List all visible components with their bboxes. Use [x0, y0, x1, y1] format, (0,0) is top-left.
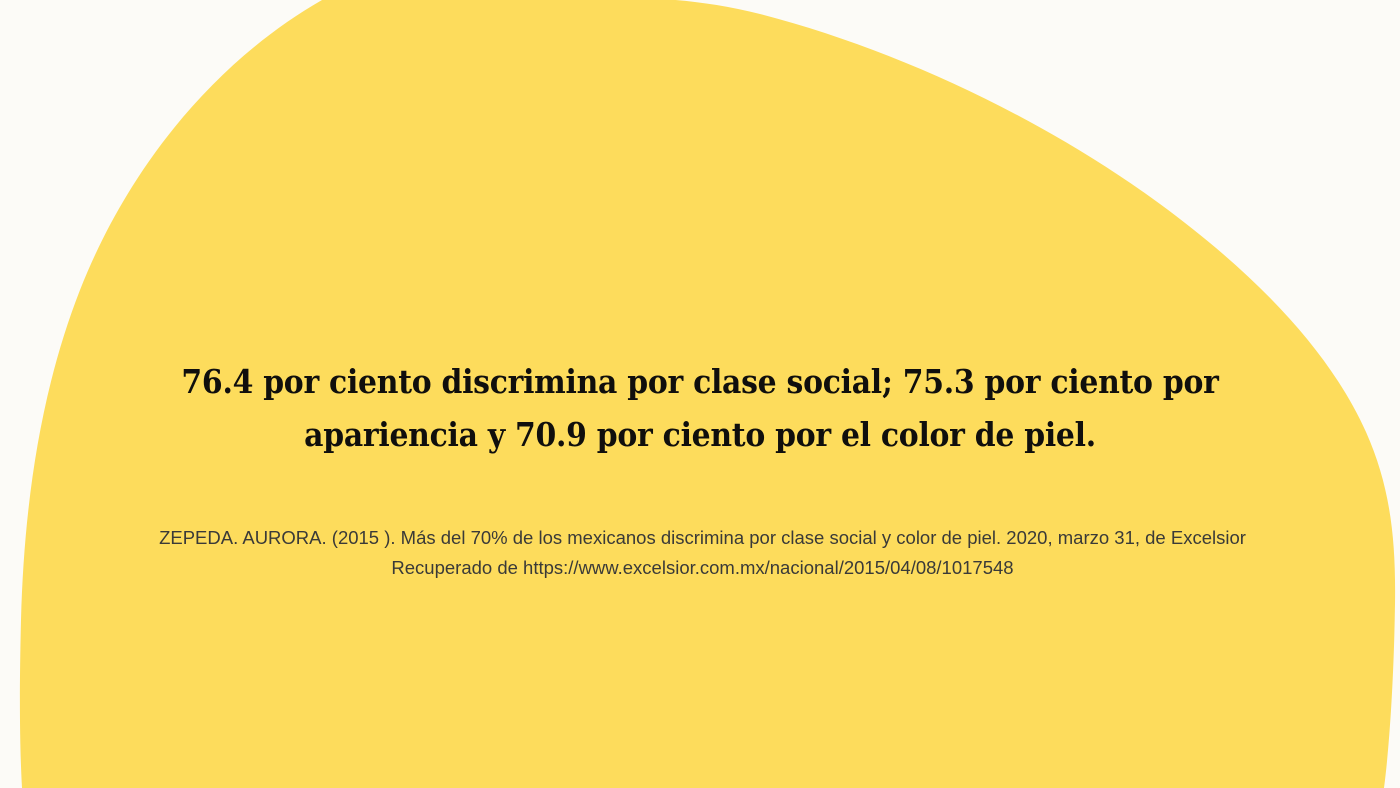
source-citation: ZEPEDA. AURORA. (2015 ). Más del 70% de …	[110, 523, 1295, 583]
slide-canvas: 76.4 por ciento discrimina por clase soc…	[0, 0, 1400, 788]
page-title: 76.4 por ciento discrimina por clase soc…	[130, 355, 1270, 462]
citation-line-reference: ZEPEDA. AURORA. (2015 ). Más del 70% de …	[110, 523, 1295, 553]
slide-content: 76.4 por ciento discrimina por clase soc…	[0, 0, 1400, 788]
citation-line-url: Recuperado de https://www.excelsior.com.…	[110, 553, 1295, 583]
